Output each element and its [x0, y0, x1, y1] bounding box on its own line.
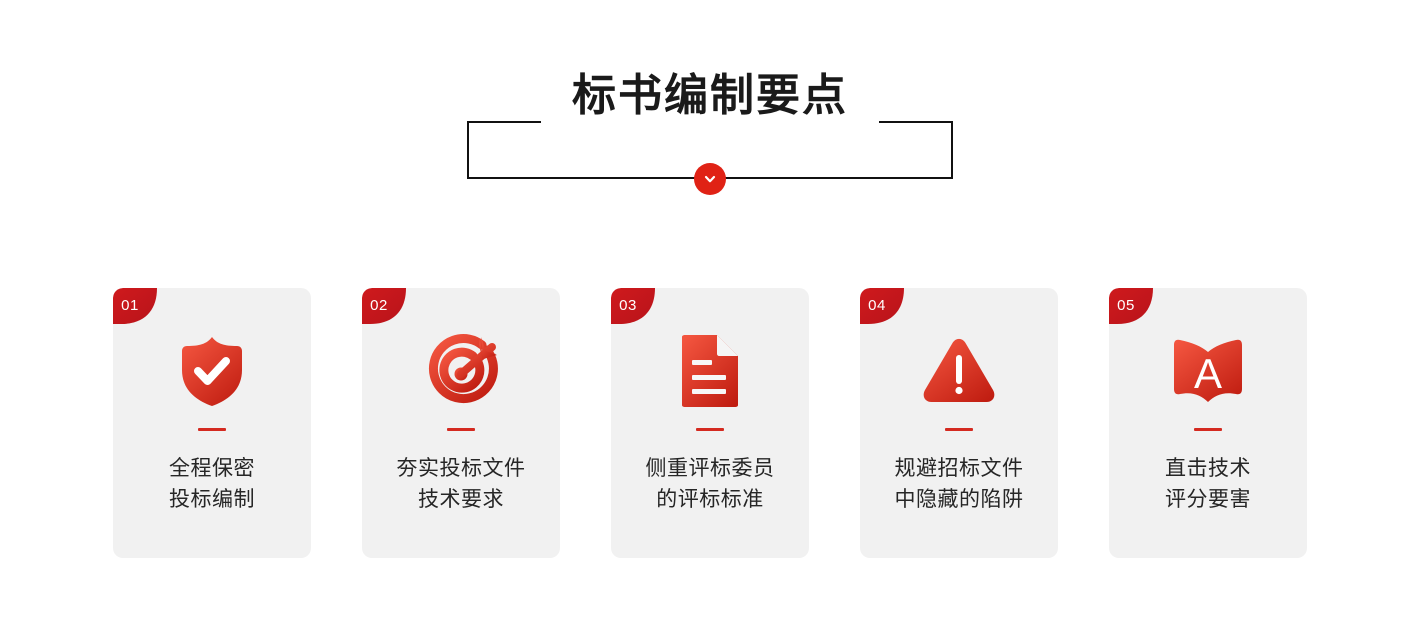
card-text: 全程保密 投标编制: [113, 453, 311, 515]
feature-card[interactable]: 02 夯实投标文件 技术要求: [362, 288, 560, 558]
card-text-line-1: 规避招标文件: [860, 453, 1058, 484]
card-text-line-1: 全程保密: [113, 453, 311, 484]
card-text: 侧重评标委员 的评标标准: [611, 453, 809, 515]
card-text: 规避招标文件 中隐藏的陷阱: [860, 453, 1058, 515]
warning-triangle-icon: [921, 332, 997, 410]
card-text-line-2: 投标编制: [113, 484, 311, 515]
card-number-badge: 02: [362, 288, 406, 324]
svg-text:A: A: [1194, 350, 1222, 397]
page-title: 标书编制要点: [467, 71, 953, 121]
open-book-a-icon: A: [1170, 332, 1246, 410]
card-divider: [945, 428, 973, 431]
card-number-label: 05: [1109, 288, 1143, 324]
card-number-label: 02: [362, 288, 396, 324]
card-text-line-2: 技术要求: [362, 484, 560, 515]
card-number-badge: 04: [860, 288, 904, 324]
card-text-line-2: 的评标标准: [611, 484, 809, 515]
card-text: 夯实投标文件 技术要求: [362, 453, 560, 515]
feature-card[interactable]: 01 全程保密 投标编制: [113, 288, 311, 558]
page-header: 标书编制要点: [467, 121, 953, 179]
shield-check-icon: [174, 332, 250, 410]
card-text: 直击技术 评分要害: [1109, 453, 1307, 515]
card-number-label: 04: [860, 288, 894, 324]
card-number-label: 03: [611, 288, 645, 324]
card-number-badge: 05: [1109, 288, 1153, 324]
feature-card[interactable]: 05 A 直击技术 评分要害: [1109, 288, 1307, 558]
feature-card-list: 01 全程保密 投标编制 02: [113, 288, 1307, 558]
feature-card[interactable]: 04 规避招标文件 中隐藏的陷阱: [860, 288, 1058, 558]
card-number-label: 01: [113, 288, 147, 324]
card-text-line-1: 侧重评标委员: [611, 453, 809, 484]
card-number-badge: 03: [611, 288, 655, 324]
document-lines-icon: [672, 332, 748, 410]
card-number-badge: 01: [113, 288, 157, 324]
card-divider: [1194, 428, 1222, 431]
target-arrow-icon: [423, 332, 499, 410]
card-text-line-2: 评分要害: [1109, 484, 1307, 515]
card-divider: [447, 428, 475, 431]
card-text-line-1: 夯实投标文件: [362, 453, 560, 484]
card-text-line-2: 中隐藏的陷阱: [860, 484, 1058, 515]
card-text-line-1: 直击技术: [1109, 453, 1307, 484]
card-divider: [696, 428, 724, 431]
card-divider: [198, 428, 226, 431]
chevron-down-icon[interactable]: [694, 163, 726, 195]
feature-card[interactable]: 03 侧重评标委员 的评标标准: [611, 288, 809, 558]
